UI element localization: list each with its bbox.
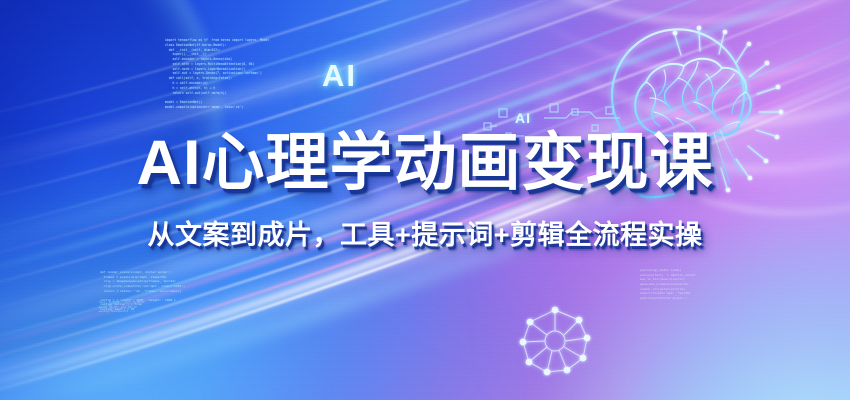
texture-overlay: [0, 0, 850, 400]
course-banner: import tensorflow as tf from keras impor…: [0, 0, 850, 400]
